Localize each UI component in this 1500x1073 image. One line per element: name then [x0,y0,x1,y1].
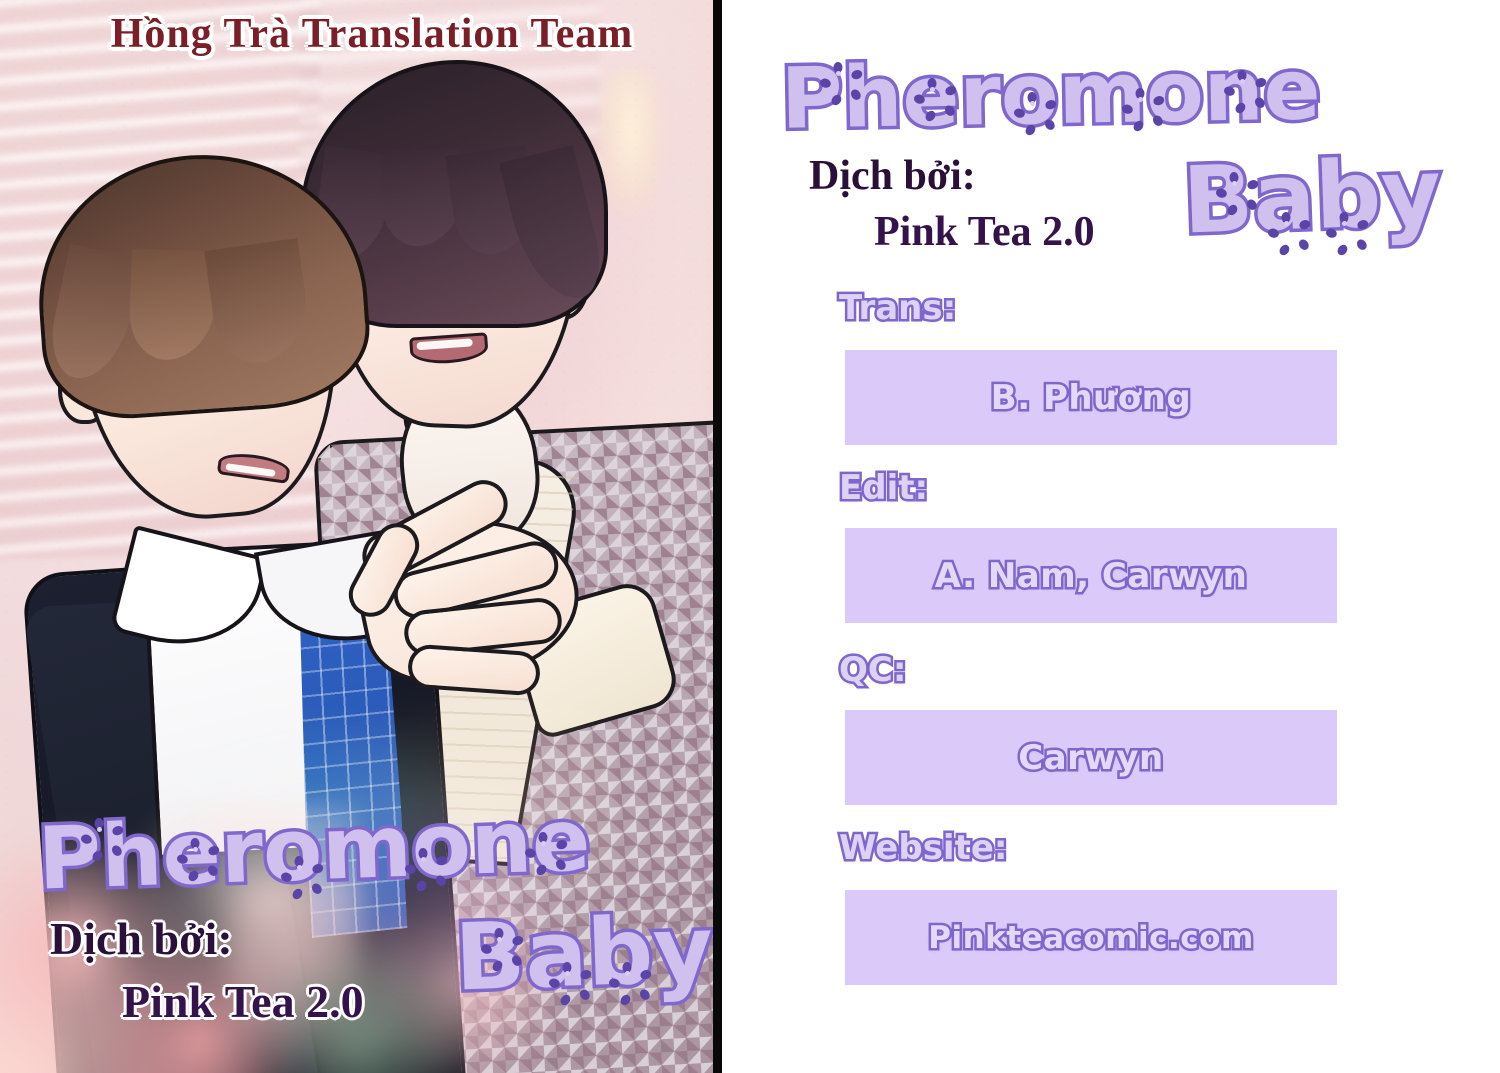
credit-row-qc: Carwyn [845,710,1337,805]
cover-translated-by-label: Dịch bởi: [50,912,233,965]
credit-row-edit: A. Nam, Carwyn [845,528,1337,623]
credits-series-title-line2: Baby [1181,139,1443,255]
cover-translated-by-value: Pink Tea 2.0 [122,975,364,1028]
credit-label-edit: Edit: [839,468,928,508]
cover-series-title-line1: Pheromone [36,790,591,909]
credit-value-trans: B. Phương [991,378,1191,418]
cover-series-title-line2: Baby [453,896,715,1012]
credit-value-qc: Carwyn [1018,738,1163,778]
credit-label-website: Website: [839,828,1008,868]
page-root: Hồng Trà Translation Team Pheromone [0,0,1500,1073]
credit-label-trans: Trans: [839,288,956,328]
credit-row-trans: B. Phương [845,350,1337,445]
hand-little-finger [407,643,542,696]
credits-series-title-line1: Pheromone [780,40,1321,147]
team-title: Hồng Trà Translation Team [52,10,692,58]
credits-translated-by-label: Dịch bởi: [809,152,976,200]
credits-translated-by-value: Pink Tea 2.0 [874,208,1095,256]
credit-value-edit: A. Nam, Carwyn [935,556,1248,596]
credit-label-qc: QC: [839,650,906,690]
credits-panel: Pheromone [731,0,1500,1073]
cover-illustration-panel: Hồng Trà Translation Team Pheromone [0,0,722,1073]
credit-row-website: Pinkteacomic.com [845,890,1337,985]
credit-value-website: Pinkteacomic.com [928,920,1254,956]
